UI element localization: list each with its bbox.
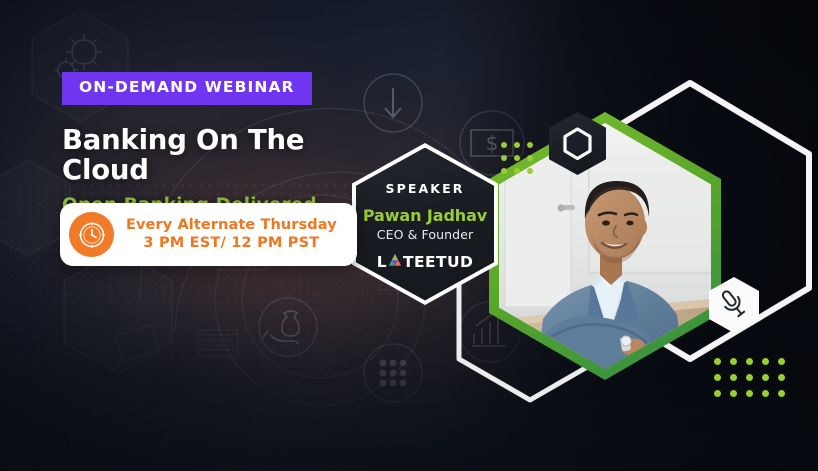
schedule-day: Every Alternate Thursday xyxy=(126,217,337,235)
webinar-type-badge: ON-DEMAND WEBINAR xyxy=(62,72,312,105)
brand-hexagon-badge xyxy=(549,112,606,175)
speaker-role: CEO & Founder xyxy=(377,227,473,242)
schedule-time: 3 PM EST/ 12 PM PST xyxy=(126,235,337,253)
company-logo: L TEETUD xyxy=(377,253,473,271)
microphone-badge xyxy=(709,277,759,333)
lateetud-mark-icon xyxy=(388,253,402,271)
company-logo-prefix: L xyxy=(377,253,387,271)
company-logo-suffix: TEETUD xyxy=(403,253,473,271)
microphone-icon xyxy=(709,277,759,333)
page-title: Banking On The Cloud xyxy=(62,125,392,186)
headline-block: ON-DEMAND WEBINAR Banking On The Cloud O… xyxy=(62,72,392,216)
clock-icon xyxy=(69,212,114,257)
webinar-banner: $ xyxy=(0,0,818,471)
schedule-badge: Every Alternate Thursday 3 PM EST/ 12 PM… xyxy=(60,203,357,266)
hexagon-ring-icon xyxy=(549,112,606,175)
schedule-text: Every Alternate Thursday 3 PM EST/ 12 PM… xyxy=(126,217,337,252)
dot-grid-small xyxy=(501,142,533,174)
speaker-label: SPEAKER xyxy=(386,181,465,196)
dot-grid-large xyxy=(714,358,785,397)
